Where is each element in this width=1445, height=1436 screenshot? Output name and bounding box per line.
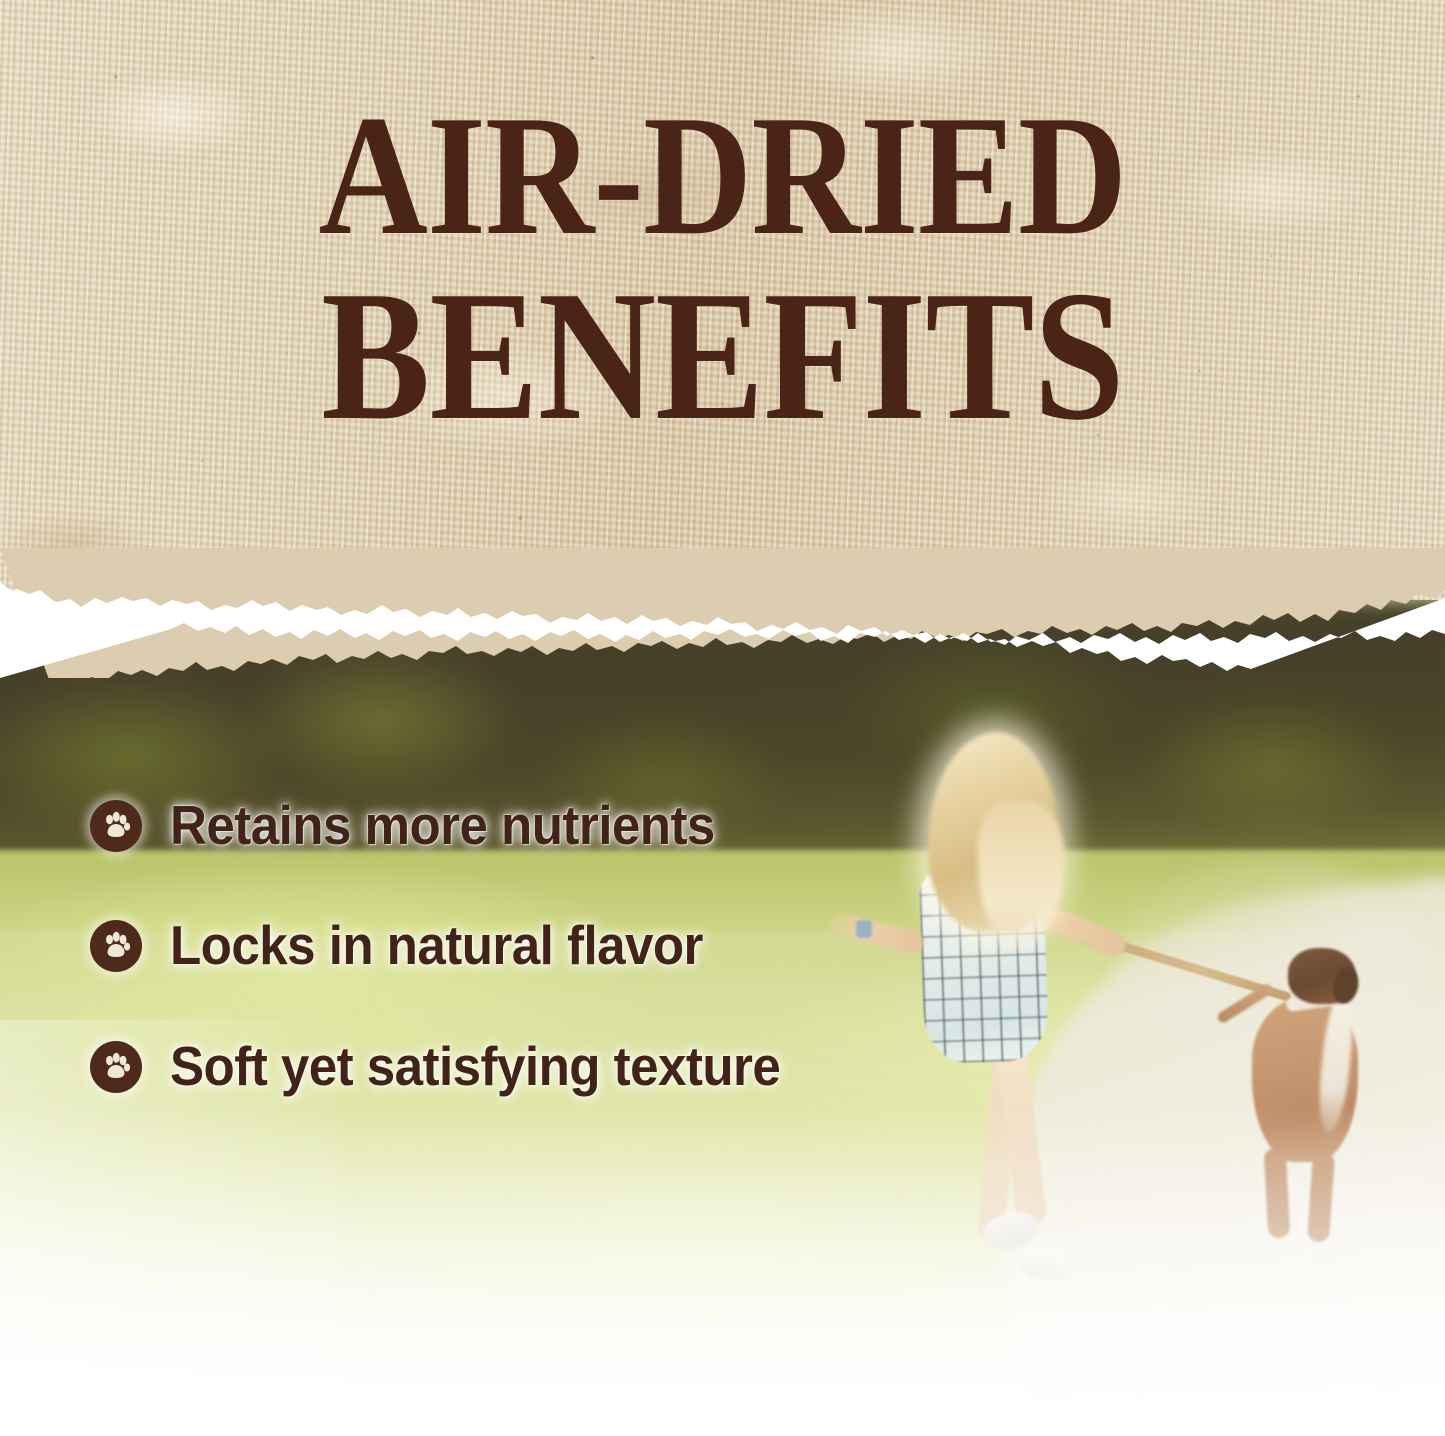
paw-print-icon bbox=[90, 800, 142, 852]
list-item: Retains more nutrients bbox=[90, 798, 756, 853]
list-item-label: Locks in natural flavor bbox=[170, 918, 703, 973]
list-item-label: Retains more nutrients bbox=[170, 798, 715, 853]
list-item: Soft yet satisfying texture bbox=[90, 1039, 826, 1094]
list-item-label: Soft yet satisfying texture bbox=[170, 1039, 780, 1094]
paw-print-icon bbox=[90, 920, 142, 972]
paw-print-icon bbox=[90, 1041, 142, 1093]
list-item: Locks in natural flavor bbox=[90, 918, 743, 973]
air-dried-benefits-poster: AIR-DRIED BENEFITS bbox=[0, 0, 1445, 1436]
benefits-list: Retains more nutrients Locks in natural … bbox=[0, 0, 1445, 1436]
